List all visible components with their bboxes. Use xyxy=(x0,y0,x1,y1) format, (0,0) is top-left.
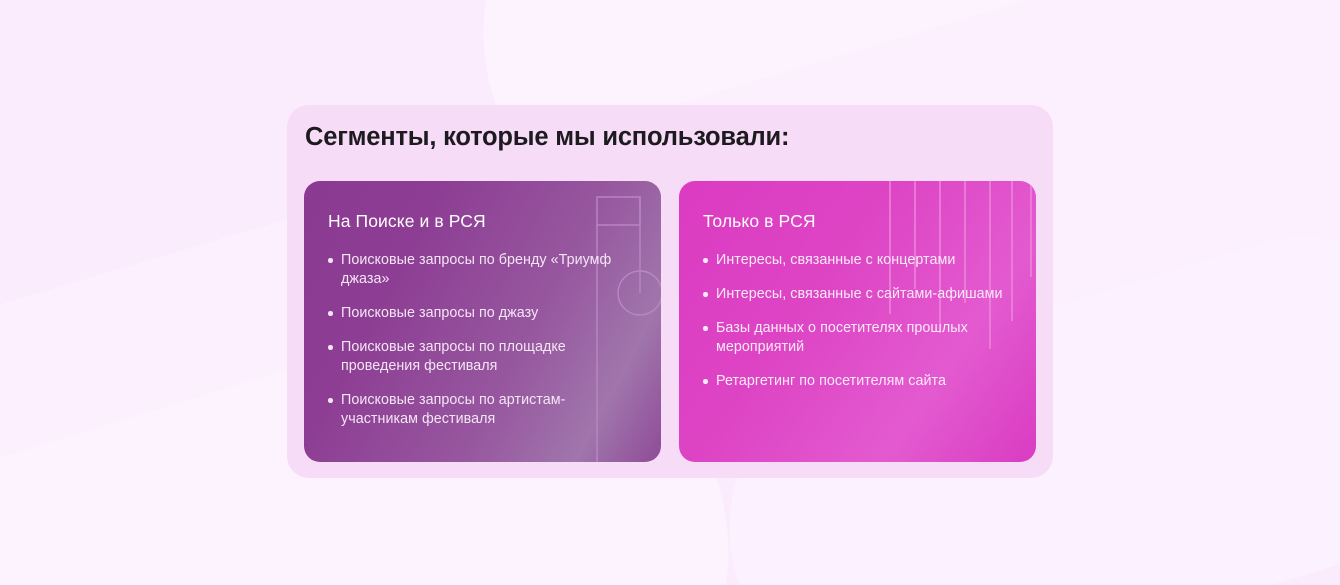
list-item: Интересы, связанные с сайтами-афишами xyxy=(703,285,1012,304)
segments-list-search-and-rsya: Поисковые запросы по бренду «Триумф джаз… xyxy=(328,251,637,429)
card-search-and-rsya[interactable]: На Поиске и в РСЯ Поисковые запросы по б… xyxy=(304,181,661,462)
page-title: Сегменты, которые мы использовали: xyxy=(305,123,789,152)
cards-row: На Поиске и в РСЯ Поисковые запросы по б… xyxy=(304,181,1036,462)
segments-list-rsya-only: Интересы, связанные с концертами Интерес… xyxy=(703,251,1012,391)
list-item: Поисковые запросы по джазу xyxy=(328,304,637,323)
card-title-search-and-rsya: На Поиске и в РСЯ xyxy=(328,211,637,232)
list-item: Базы данных о посетителях прошлых меропр… xyxy=(703,319,1012,357)
list-item: Интересы, связанные с концертами xyxy=(703,251,1012,270)
slide-canvas: Сегменты, которые мы использовали: На По… xyxy=(0,0,1340,585)
list-item: Поисковые запросы по бренду «Триумф джаз… xyxy=(328,251,637,289)
list-item: Ретаргетинг по посетителям сайта xyxy=(703,372,1012,391)
card-title-rsya-only: Только в РСЯ xyxy=(703,211,1012,232)
segments-panel: Сегменты, которые мы использовали: На По… xyxy=(287,105,1053,478)
list-item: Поисковые запросы по площадке проведения… xyxy=(328,338,637,376)
list-item: Поисковые запросы по артистам-участникам… xyxy=(328,391,637,429)
card-rsya-only[interactable]: Только в РСЯ Интересы, связанные с конце… xyxy=(679,181,1036,462)
